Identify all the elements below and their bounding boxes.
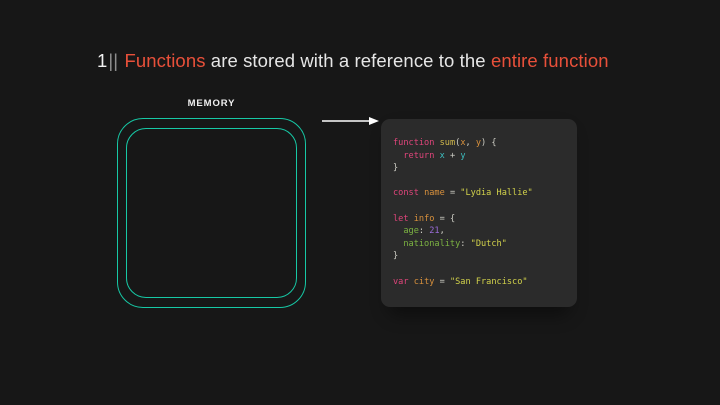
code-token-operator: = {	[434, 214, 455, 224]
code-token-operator: =	[445, 188, 461, 198]
title-separator: ||	[107, 50, 119, 71]
code-line: var city = "San Francisco"	[393, 276, 577, 289]
right-arrow-icon	[322, 112, 380, 130]
title-accent-tail: entire function	[491, 50, 609, 71]
code-token-plain	[393, 151, 403, 161]
code-token-keyword: let	[393, 214, 409, 224]
code-token-property: nationality	[403, 239, 460, 249]
memory-label: MEMORY	[117, 98, 306, 109]
slide-canvas: 1|| Functions are stored with a referenc…	[0, 0, 720, 405]
code-token-punctuation: ,	[466, 138, 476, 148]
code-block: function sum(x, y) { return x + y}const …	[393, 137, 577, 288]
code-line	[393, 200, 577, 213]
code-token-keyword: var	[393, 277, 409, 287]
code-token-punctuation: :	[419, 226, 429, 236]
code-token-function: sum	[440, 138, 456, 148]
code-token-variable: name	[424, 188, 445, 198]
code-line: let info = {	[393, 213, 577, 226]
code-token-variable: info	[414, 214, 435, 224]
code-token-plain	[393, 239, 403, 249]
code-token-keyword: function	[393, 138, 434, 148]
code-line: return x + y	[393, 150, 577, 163]
code-line	[393, 175, 577, 188]
code-line: }	[393, 250, 577, 263]
slide-number: 1	[97, 50, 107, 71]
code-token-punctuation: ,	[440, 226, 445, 236]
code-token-identifier: y	[460, 151, 465, 161]
code-token-string: "San Francisco"	[450, 277, 528, 287]
code-line: }	[393, 162, 577, 175]
code-token-keyword: const	[393, 188, 419, 198]
code-line: const name = "Lydia Hallie"	[393, 187, 577, 200]
page-title: 1|| Functions are stored with a referenc…	[97, 48, 657, 74]
code-token-string: "Dutch"	[471, 239, 507, 249]
code-token-property: age	[403, 226, 419, 236]
code-token-punctuation: ) {	[481, 138, 497, 148]
code-token-punctuation: :	[460, 239, 470, 249]
code-token-punctuation: }	[393, 251, 398, 261]
code-line: nationality: "Dutch"	[393, 238, 577, 251]
code-token-operator: =	[434, 277, 450, 287]
code-token-keyword: return	[403, 151, 434, 161]
title-middle-text: are stored with a reference to the	[206, 50, 491, 71]
code-token-punctuation: }	[393, 163, 398, 173]
title-accent-lead: Functions	[124, 50, 205, 71]
code-line: age: 21,	[393, 225, 577, 238]
memory-box-inner	[126, 128, 297, 298]
code-token-plain	[393, 226, 403, 236]
code-line: function sum(x, y) {	[393, 137, 577, 150]
code-panel: function sum(x, y) { return x + y}const …	[381, 119, 577, 307]
code-line	[393, 263, 577, 276]
code-token-string: "Lydia Hallie"	[460, 188, 532, 198]
code-token-variable: city	[414, 277, 435, 287]
code-token-number: 21	[429, 226, 439, 236]
code-token-operator: +	[445, 151, 461, 161]
